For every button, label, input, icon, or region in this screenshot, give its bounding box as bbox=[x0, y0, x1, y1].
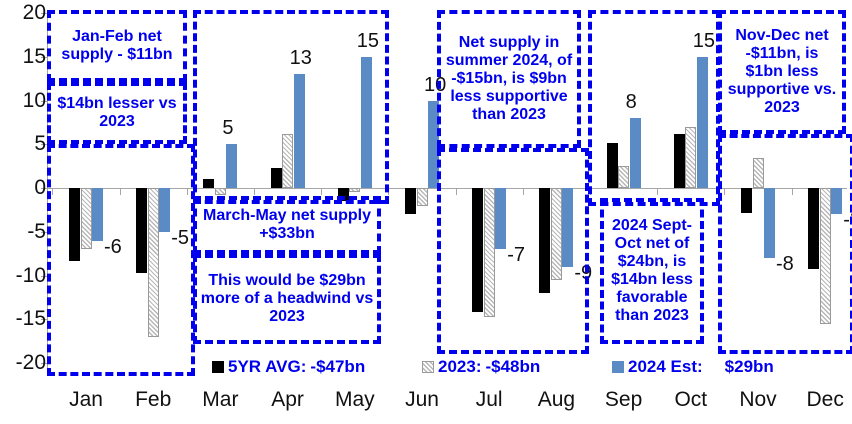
annotation-jan-feb-net: Jan-Feb net supply - $11bn bbox=[47, 10, 187, 82]
legend-value-2023: -$48bn bbox=[485, 358, 540, 376]
legend-swatch-2023-icon bbox=[422, 361, 434, 373]
y-axis-tick-label: 0 bbox=[2, 177, 46, 198]
bar-jun-avg bbox=[405, 188, 416, 214]
y-axis-tick-label: -10 bbox=[2, 265, 46, 286]
bar-jun-y2023 bbox=[417, 188, 428, 206]
annotation-march-may-headwind: This would be $29bn more of a headwind v… bbox=[193, 254, 381, 344]
x-axis-category-label: Jan bbox=[52, 389, 120, 411]
legend-label-2023: 2023: bbox=[438, 358, 481, 376]
x-axis-category-label: Dec bbox=[791, 389, 852, 411]
annotation-march-may-outline bbox=[193, 10, 389, 204]
y-axis-tick-label: 5 bbox=[2, 133, 46, 154]
annotation-jan-feb-outline bbox=[47, 144, 195, 376]
annotation-nov-dec-net: Nov-Dec net -$11bn, is $1bn less support… bbox=[718, 10, 846, 134]
annotation-jan-feb-lesser: $14bn lesser vs 2023 bbox=[47, 82, 187, 144]
legend-label-5yr-avg: 5YR AVG: bbox=[228, 358, 306, 376]
annotation-sept-oct-net: 2024 Sept-Oct net of $24bn, is $14bn les… bbox=[600, 198, 704, 344]
annotation-march-may-net: March-May net supply +$33bn bbox=[193, 196, 381, 254]
y-axis-tick-label: -15 bbox=[2, 308, 46, 329]
legend-item-2023: 2023: -$48bn bbox=[422, 358, 540, 376]
legend-swatch-5yr-avg-icon bbox=[212, 361, 224, 373]
x-axis-category-label: Sep bbox=[590, 389, 658, 411]
y-axis-tick-label: 10 bbox=[2, 90, 46, 111]
legend-value-2024-est: $29bn bbox=[725, 358, 774, 376]
chart-root: 20151050-5-10-15-20 -6-55131510-7-9815-8… bbox=[0, 0, 852, 424]
y-axis-tick-label: -20 bbox=[2, 352, 46, 373]
x-axis-category-label: Jul bbox=[455, 389, 523, 411]
x-axis-category-label: Jun bbox=[388, 389, 456, 411]
x-axis-category-label: Apr bbox=[254, 389, 322, 411]
legend-swatch-2024-est-icon bbox=[612, 361, 624, 373]
annotation-nov-dec-outline bbox=[718, 134, 852, 354]
legend-label-2024-est: 2024 Est: bbox=[628, 358, 703, 376]
x-axis-category-label: Nov bbox=[724, 389, 792, 411]
chart-legend: 5YR AVG: -$47bn 2023: -$48bn 2024 Est: $… bbox=[47, 358, 847, 382]
y-axis-tick-label: 20 bbox=[2, 2, 46, 23]
annotation-sept-oct-outline bbox=[588, 10, 720, 206]
legend-item-5yr-avg: 5YR AVG: -$47bn bbox=[212, 358, 365, 376]
x-axis-category-label: Aug bbox=[522, 389, 590, 411]
y-axis-tick-label: 15 bbox=[2, 46, 46, 67]
x-axis-category-label: Oct bbox=[657, 389, 725, 411]
legend-value-5yr-avg: -$47bn bbox=[310, 358, 365, 376]
legend-item-2024-est: 2024 Est: $29bn bbox=[612, 358, 774, 376]
x-axis-category-label: Mar bbox=[186, 389, 254, 411]
annotation-summer-outline bbox=[437, 148, 589, 354]
y-axis-tick-label: -5 bbox=[2, 221, 46, 242]
annotation-summer-net: Net supply in summer 2024, of -$15bn, is… bbox=[437, 10, 581, 148]
x-axis-category-label: May bbox=[321, 389, 389, 411]
x-axis-category-label: Feb bbox=[119, 389, 187, 411]
